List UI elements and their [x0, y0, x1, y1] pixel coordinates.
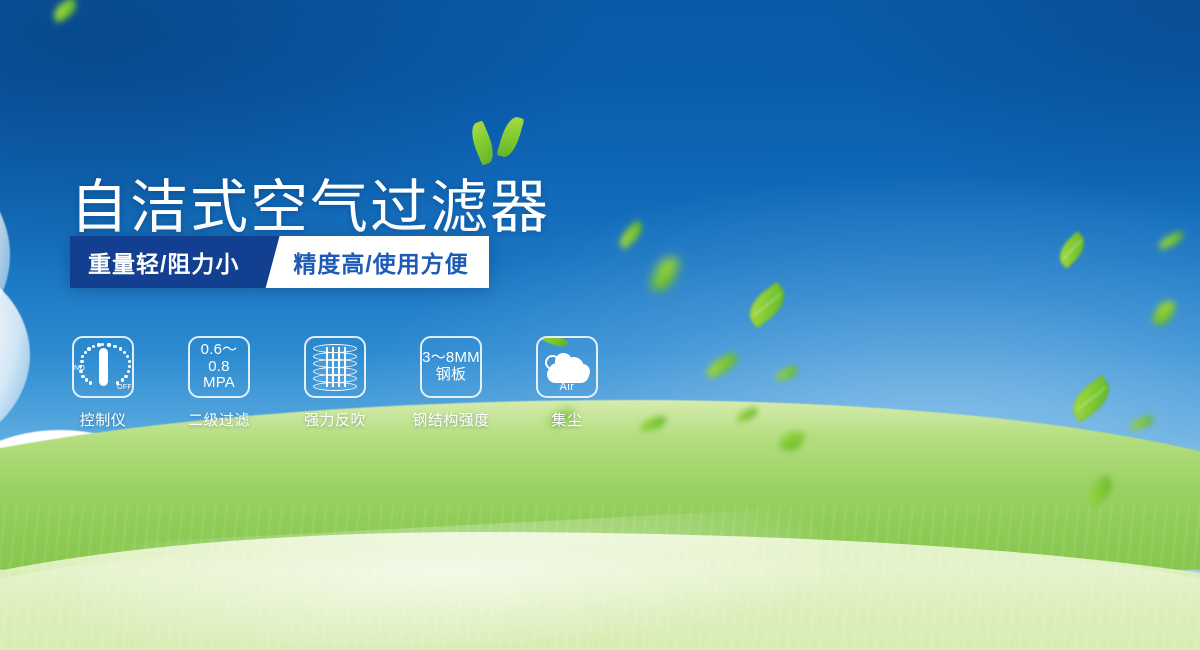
- air-label: Air: [541, 381, 593, 393]
- subtitle-right: 精度高/使用方便: [287, 236, 488, 288]
- grass-meadow: [0, 416, 1200, 650]
- feature-icon-box: 0.6～0.8 MPA: [188, 336, 250, 398]
- steel-plate-text-icon: 3～8MM 钢板: [422, 350, 480, 384]
- product-banner: 自洁式空气过滤器 重量轻/阻力小 精度高/使用方便: [0, 0, 1200, 650]
- gauge-label-no: NO: [74, 365, 85, 372]
- filter-cartridge-icon: [313, 344, 357, 390]
- pressure-text-icon: 0.6～0.8 MPA: [190, 342, 248, 392]
- pressure-line-1: 0.6～0.8: [190, 342, 248, 376]
- feature-label: 二级过滤: [188, 409, 250, 430]
- feature-item-dust-collection[interactable]: Air 集尘: [534, 336, 600, 430]
- pressure-line-2: MPA: [190, 375, 248, 392]
- feature-item-secondary-filter[interactable]: 0.6～0.8 MPA 二级过滤: [186, 336, 252, 430]
- subtitle-bar: 重量轻/阻力小 精度高/使用方便: [70, 236, 489, 288]
- subtitle-divider: [261, 236, 287, 288]
- feature-icon-box: 3～8MM 钢板: [420, 336, 482, 398]
- feature-item-controller[interactable]: NO OFF 控制仪: [70, 336, 136, 430]
- subtitle-left: 重量轻/阻力小: [70, 236, 261, 288]
- page-title: 自洁式空气过滤器: [70, 179, 550, 237]
- feature-label: 钢结构强度: [412, 409, 490, 430]
- feature-icon-box: Air: [536, 336, 598, 398]
- feature-icon-box: NO OFF: [72, 336, 134, 398]
- grass-texture: [0, 506, 1200, 650]
- steel-line-1: 3～8MM: [422, 350, 480, 367]
- steel-line-2: 钢板: [422, 367, 480, 384]
- feature-label: 集尘: [551, 409, 582, 430]
- sprout-leaves-icon: [474, 112, 522, 164]
- gauge-icon: NO OFF: [75, 341, 131, 393]
- feature-item-steel-strength[interactable]: 3～8MM 钢板 钢结构强度: [418, 336, 484, 430]
- feature-list: NO OFF 控制仪 0.6～0.8 MPA 二级过滤: [70, 336, 600, 430]
- gauge-label-off: OFF: [117, 384, 132, 391]
- feature-icon-box: [304, 336, 366, 398]
- cloud-air-icon: Air: [541, 344, 593, 390]
- feature-label: 控制仪: [80, 409, 127, 430]
- feature-label: 强力反吹: [304, 409, 366, 430]
- gauge-needle: [99, 348, 108, 386]
- leaf-blade-right: [497, 114, 525, 159]
- feature-item-backblow[interactable]: 强力反吹: [302, 336, 368, 430]
